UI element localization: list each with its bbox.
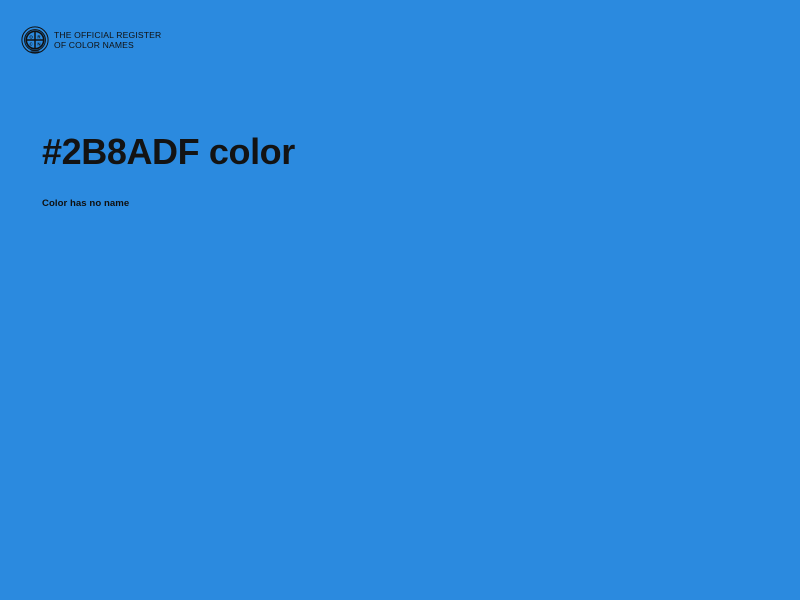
brand-line-1: THE OFFICIAL REGISTER — [54, 30, 161, 41]
svg-text:C: C — [30, 41, 34, 46]
color-page: O R C N THE OFFICIAL REGISTER OF COLOR N… — [0, 0, 800, 600]
color-name-status: Color has no name — [42, 198, 129, 209]
brand-wordmark: THE OFFICIAL REGISTER OF COLOR NAMES — [54, 30, 161, 51]
svg-text:O: O — [29, 34, 33, 39]
brand-lockup[interactable]: O R C N THE OFFICIAL REGISTER OF COLOR N… — [21, 26, 161, 54]
page-title: #2B8ADF color — [42, 131, 295, 173]
official-register-seal-icon: O R C N — [21, 26, 49, 54]
svg-text:N: N — [37, 41, 40, 46]
svg-text:R: R — [37, 34, 41, 39]
brand-line-2: OF COLOR NAMES — [54, 40, 161, 51]
